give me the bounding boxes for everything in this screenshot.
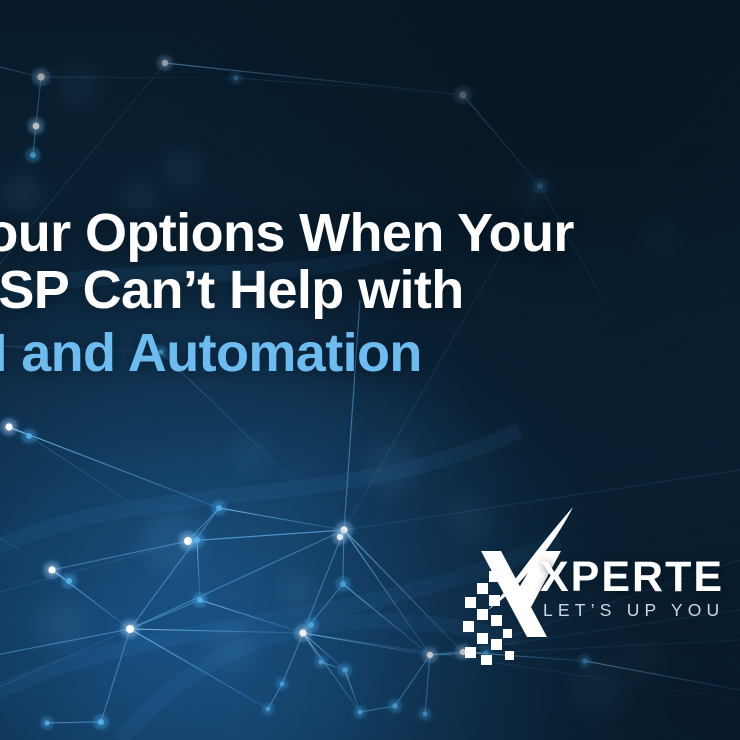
headline-line-3: AI and Automation: [0, 326, 740, 381]
headline: Your Options When Your MSP Can’t Help wi…: [0, 206, 740, 381]
banner-image: Your Options When Your MSP Can’t Help wi…: [0, 0, 740, 740]
logo-wordmark: XPERTE: [540, 553, 724, 602]
logo: XPERTE LET’S UP YOU: [455, 505, 740, 670]
headline-line-2: MSP Can’t Help with: [0, 263, 740, 318]
logo-tagline: LET’S UP YOU: [543, 600, 724, 621]
headline-line-1: Your Options When Your: [0, 206, 740, 261]
